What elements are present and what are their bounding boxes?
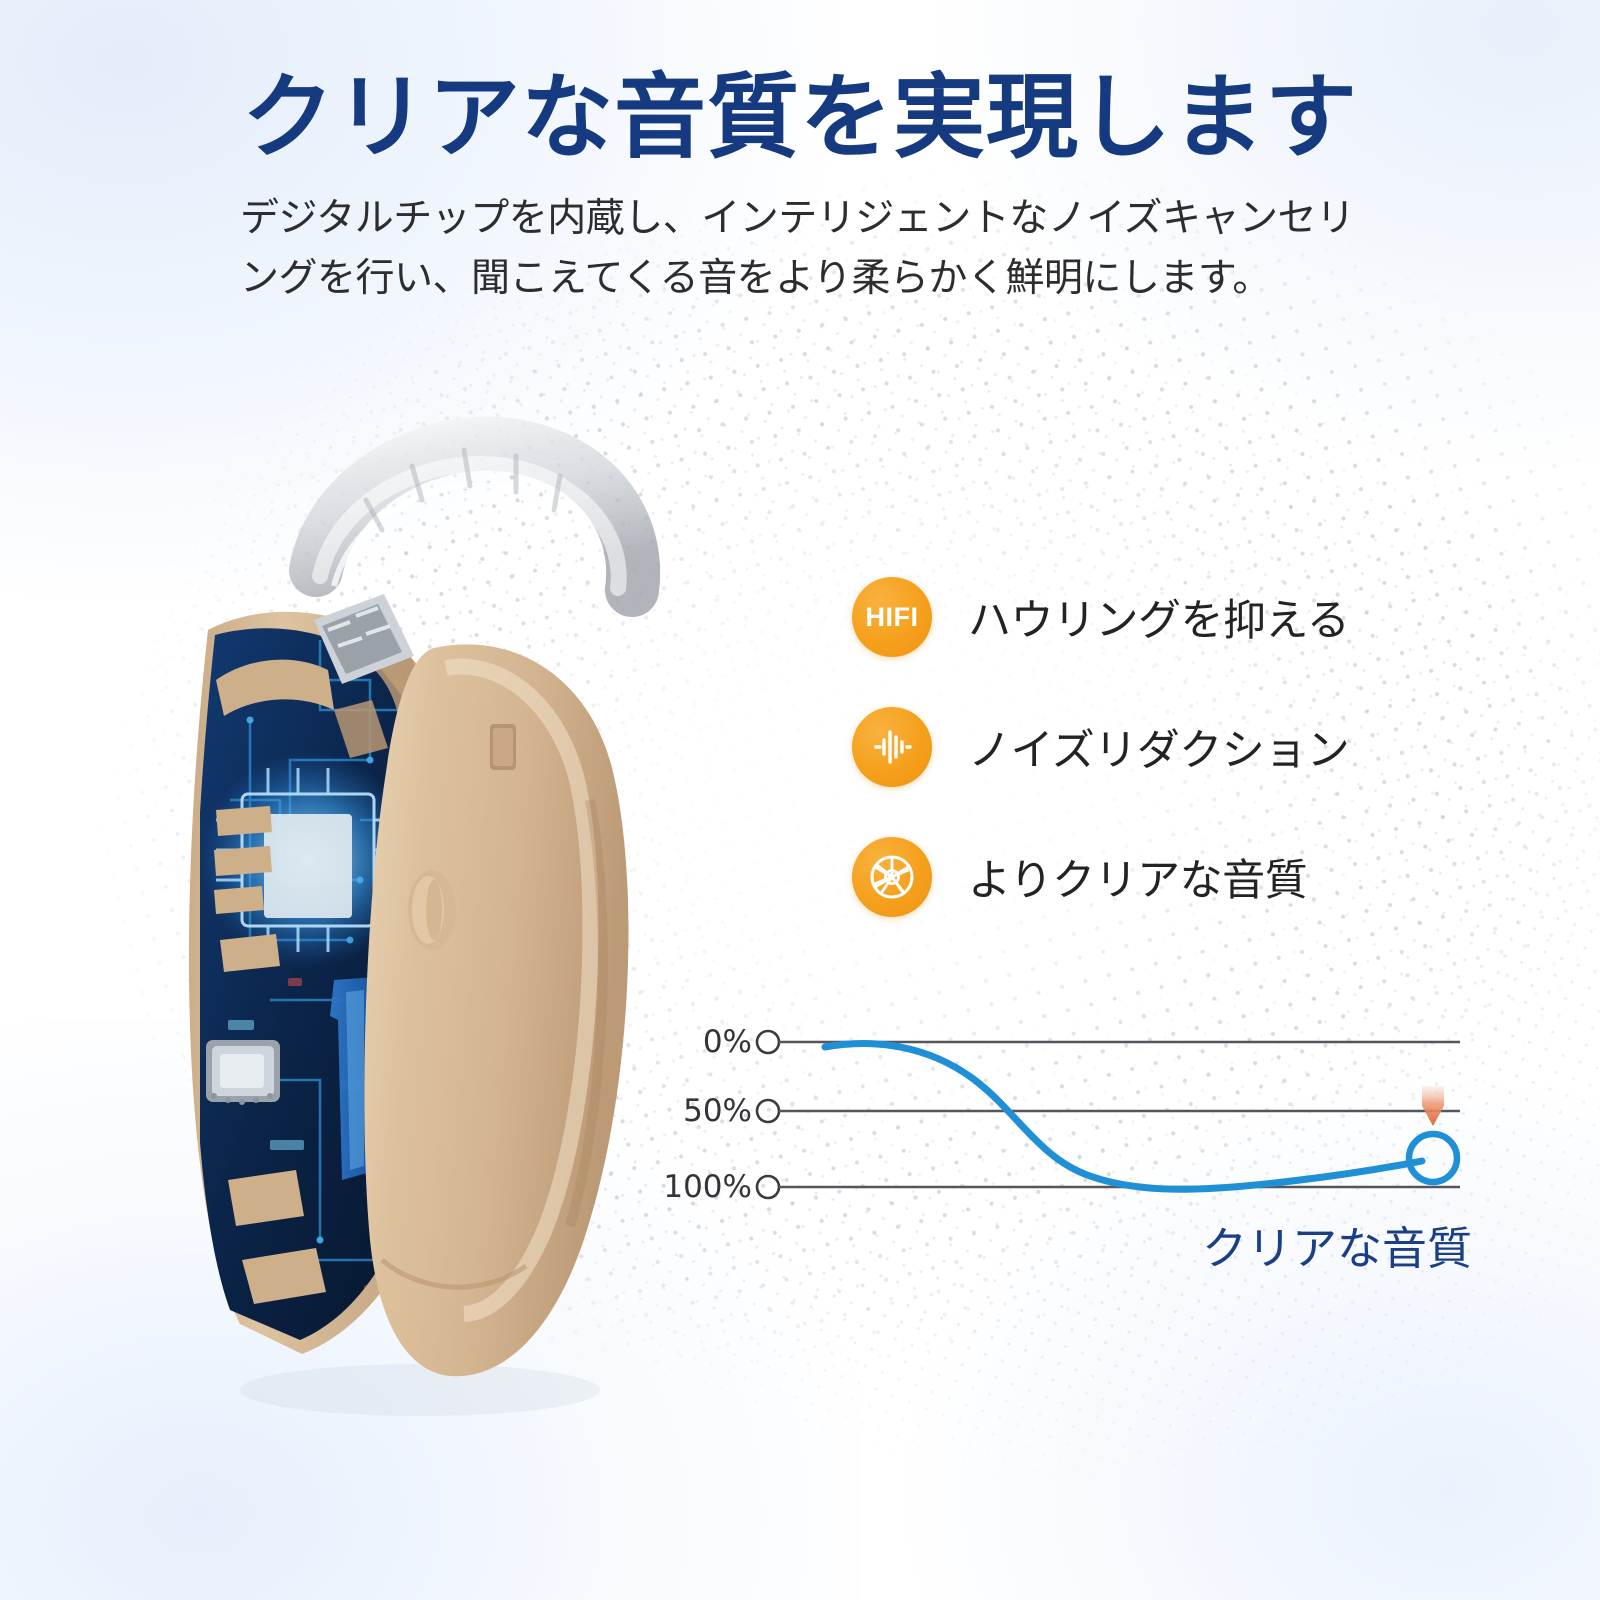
feature-item-howling-suppression[interactable]: HIFI ハウリングを抑える <box>852 552 1472 682</box>
page-subtitle: デジタルチップを内蔵し、インテリジェントなノイズキャンセリングを行い、聞こえてく… <box>240 189 1360 308</box>
header: クリアな音質を実現します デジタルチップを内蔵し、インテリジェントなノイズキャン… <box>0 0 1600 308</box>
sound-wave-icon <box>852 707 932 787</box>
feature-item-clear-sound[interactable]: よりクリアな音質 <box>852 812 1472 942</box>
chart-drop-arrow-icon <box>1422 1086 1444 1126</box>
page-title: クリアな音質を実現します <box>0 0 1600 167</box>
hifi-icon: HIFI <box>852 577 932 657</box>
chart-tick-node-0 <box>757 1031 779 1053</box>
chart-end-point-marker <box>1409 1134 1457 1182</box>
feature-item-noise-reduction[interactable]: ノイズリダクション <box>852 682 1472 812</box>
chart-ytick-0: 0% <box>703 1024 752 1060</box>
feature-label-clear-sound: よりクリアな音質 <box>968 846 1307 908</box>
hifi-icon-label: HIFI <box>866 602 919 633</box>
feature-label-howling-suppression: ハウリングを抑える <box>968 586 1349 648</box>
chart-series-noise-level <box>825 1044 1422 1190</box>
chart-tick-node-50 <box>757 1100 779 1122</box>
chart-caption: クリアな音質 <box>660 1212 1472 1277</box>
product-feature-banner: クリアな音質を実現します デジタルチップを内蔵し、インテリジェントなノイズキャン… <box>0 0 1600 1600</box>
feature-list: HIFI ハウリングを抑える ノイズリダクション <box>852 552 1472 942</box>
chart-ytick-100: 100% <box>663 1169 752 1205</box>
feature-label-noise-reduction: ノイズリダクション <box>968 716 1349 778</box>
chart-tick-node-100 <box>757 1176 779 1198</box>
chart-ytick-50: 50% <box>683 1093 752 1129</box>
aperture-icon <box>852 837 932 917</box>
